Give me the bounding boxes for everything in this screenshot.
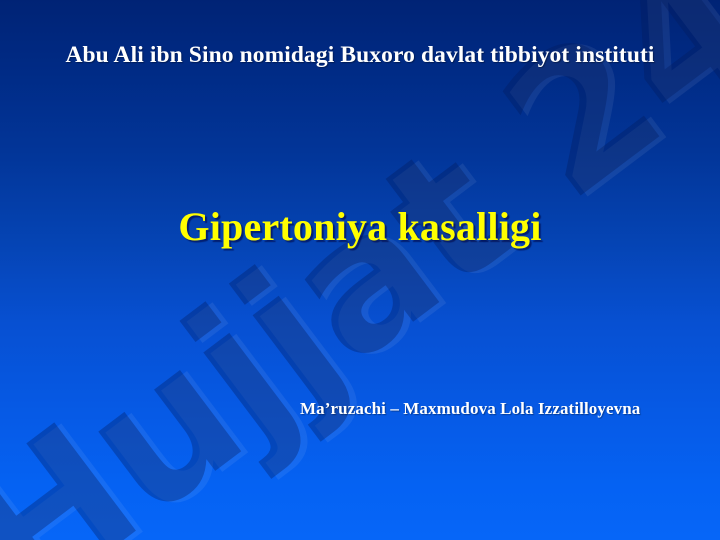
watermark-layer: Hujjat 24 [0,0,720,540]
presenter-name: Ma’ruzachi – Maxmudova Lola Izzatilloyev… [300,398,710,420]
slide-main-title: Gipertoniya kasalligi [40,203,680,251]
presentation-slide: Hujjat 24 Abu Ali ibn Sino nomidagi Buxo… [0,0,720,540]
watermark-hujjat24: Hujjat 24 [0,0,720,540]
institution-title: Abu Ali ibn Sino nomidagi Buxoro davlat … [40,40,680,71]
